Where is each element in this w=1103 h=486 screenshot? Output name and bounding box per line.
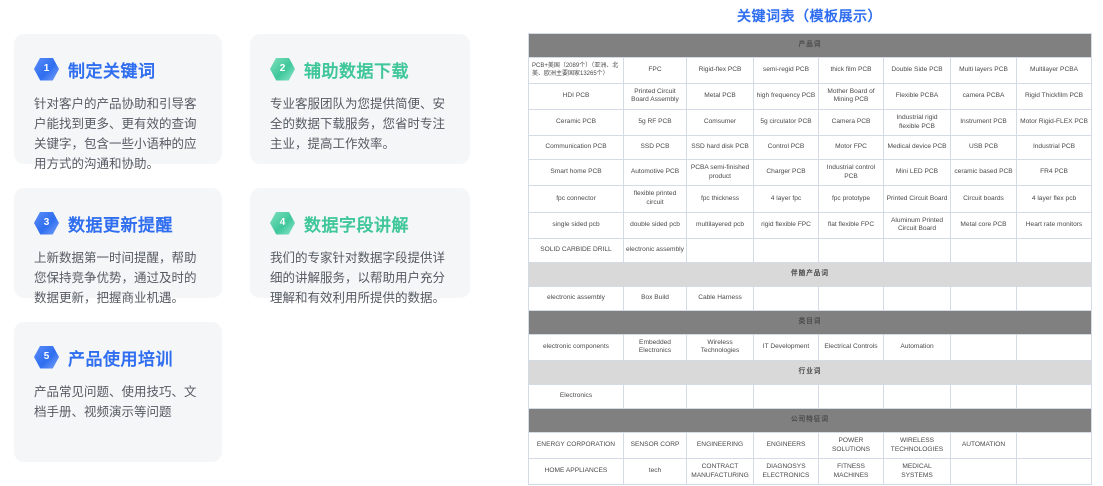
empty-cell — [624, 384, 687, 408]
empty-cell — [1017, 334, 1092, 360]
keyword-cell[interactable]: Automation — [884, 334, 951, 360]
table-row: PCB+美国（2089个）（亚洲、北美、欧洲主要国家13265个）FPCRigi… — [529, 58, 1092, 84]
keyword-cell[interactable]: Heart rate monitors — [1017, 212, 1092, 238]
keyword-cell[interactable]: POWER SOLUTIONS — [819, 432, 884, 458]
keyword-cell[interactable]: flat flexible FPC — [819, 212, 884, 238]
keyword-cell[interactable]: Double Side PCB — [884, 58, 951, 84]
table-row: Communication PCBSSD PCBSSD hard disk PC… — [529, 136, 1092, 160]
keyword-cell[interactable]: SSD PCB — [624, 136, 687, 160]
keyword-cell[interactable]: Ceramic PCB — [529, 110, 624, 136]
keyword-cell[interactable]: Industrial PCB — [1017, 136, 1092, 160]
keyword-cell[interactable]: Embedded Electronics — [624, 334, 687, 360]
section-header-row: 公司特征词 — [529, 408, 1092, 432]
keyword-cell[interactable]: Motor FPC — [819, 136, 884, 160]
table-row: SOLID CARBIDE DRILLelectronic assembly — [529, 238, 1092, 262]
keyword-cell[interactable]: 4 layer flex pcb — [1017, 186, 1092, 212]
keyword-cell[interactable]: camera PCBA — [951, 83, 1017, 109]
empty-cell — [1017, 238, 1092, 262]
table-title: 关键词表（模板展示） — [528, 0, 1091, 33]
keyword-cell[interactable]: ENGINEERS — [754, 432, 819, 458]
keyword-cell[interactable]: semi-regid PCB — [754, 58, 819, 84]
keyword-cell[interactable]: flexible printed circuit — [624, 186, 687, 212]
empty-cell — [754, 238, 819, 262]
keyword-cell[interactable]: HOME APPLIANCES — [529, 459, 624, 485]
keyword-cell[interactable]: Rigid Thickfilm PCB — [1017, 83, 1092, 109]
service-card-header: 5产品使用培训 — [34, 344, 202, 370]
table-row: electronic assemblyBox BuildCable Harnes… — [529, 286, 1092, 310]
service-card-header: 2辅助数据下载 — [270, 56, 450, 82]
empty-cell — [754, 384, 819, 408]
keyword-cell[interactable]: Charger PCB — [754, 160, 819, 186]
keyword-cell[interactable]: Cable Harness — [687, 286, 754, 310]
keyword-cell[interactable]: ENGINEERING — [687, 432, 754, 458]
keyword-table: 产品词PCB+美国（2089个）（亚洲、北美、欧洲主要国家13265个）FPCR… — [528, 33, 1092, 485]
empty-cell — [1017, 432, 1092, 458]
keyword-cell[interactable]: SENSOR CORP — [624, 432, 687, 458]
table-row: ENERGY CORPORATIONSENSOR CORPENGINEERING… — [529, 432, 1092, 458]
keyword-cell[interactable]: MEDICAL SYSTEMS — [884, 459, 951, 485]
keyword-cell[interactable]: IT Development — [754, 334, 819, 360]
keyword-cell[interactable]: Electronics — [529, 384, 624, 408]
service-card-1[interactable]: 1制定关键词针对客户的产品协助和引导客户能找到更多、更有效的查询关键字，包含一些… — [14, 34, 222, 164]
table-row: HOME APPLIANCEStechCONTRACT MANUFACTURIN… — [529, 459, 1092, 485]
keyword-cell[interactable]: Communication PCB — [529, 136, 624, 160]
hexagon-badge-icon: 3 — [34, 212, 59, 235]
keyword-cell[interactable]: Multi layers PCB — [951, 58, 1017, 84]
hexagon-badge-icon: 5 — [34, 346, 59, 369]
keyword-cell[interactable]: Flexible PCBA — [884, 83, 951, 109]
keyword-cell[interactable]: PCB+美国（2089个）（亚洲、北美、欧洲主要国家13265个） — [529, 58, 624, 84]
table-row: Electronics — [529, 384, 1092, 408]
empty-cell — [1017, 459, 1092, 485]
keyword-cell[interactable]: Printed Circuit Board — [884, 186, 951, 212]
service-card-5[interactable]: 5产品使用培训产品常见问题、使用技巧、文档手册、视频演示等问题 — [14, 322, 222, 462]
keyword-cell[interactable]: HDI PCB — [529, 83, 624, 109]
service-card-header: 1制定关键词 — [34, 56, 202, 82]
keyword-cell[interactable]: 5g RF PCB — [624, 110, 687, 136]
service-cards-panel: 1制定关键词针对客户的产品协助和引导客户能找到更多、更有效的查询关键字，包含一些… — [0, 0, 500, 486]
section-header-3: 行业词 — [529, 360, 1092, 384]
service-card-2[interactable]: 2辅助数据下载专业客服团队为您提供简便、安全的数据下载服务，您省时专注主业，提高… — [250, 34, 470, 164]
page-root: 1制定关键词针对客户的产品协助和引导客户能找到更多、更有效的查询关键字，包含一些… — [0, 0, 1103, 486]
keyword-cell[interactable]: Smart home PCB — [529, 160, 624, 186]
empty-cell — [951, 238, 1017, 262]
keyword-cell[interactable]: USB PCB — [951, 136, 1017, 160]
section-header-2: 类目词 — [529, 310, 1092, 334]
keyword-cell[interactable]: Industrial rigid flexible PCB — [884, 110, 951, 136]
keyword-cell[interactable]: Metal PCB — [687, 83, 754, 109]
keyword-cell[interactable]: Box Build — [624, 286, 687, 310]
service-card-3[interactable]: 3数据更新提醒上新数据第一时间提醒，帮助您保持竞争优势，通过及时的数据更新，把握… — [14, 188, 222, 298]
keyword-cell[interactable]: Rigid-flex PCB — [687, 58, 754, 84]
keyword-cell[interactable]: double sided pcb — [624, 212, 687, 238]
empty-cell — [884, 384, 951, 408]
keyword-cell[interactable]: thick film PCB — [819, 58, 884, 84]
keyword-cell[interactable]: FITNESS MACHINES — [819, 459, 884, 485]
keyword-cell[interactable]: Camera PCB — [819, 110, 884, 136]
table-row: Ceramic PCB5g RF PCBComsumer5g circulato… — [529, 110, 1092, 136]
keyword-cell[interactable]: FPC — [624, 58, 687, 84]
keyword-cell[interactable]: 4 layer fpc — [754, 186, 819, 212]
empty-cell — [884, 286, 951, 310]
keyword-cell[interactable]: single sided pcb — [529, 212, 624, 238]
keyword-cell[interactable]: SOLID CARBIDE DRILL — [529, 238, 624, 262]
keyword-cell[interactable]: high frequency PCB — [754, 83, 819, 109]
service-card-header: 4数据字段讲解 — [270, 210, 450, 236]
keyword-table-body: 产品词PCB+美国（2089个）（亚洲、北美、欧洲主要国家13265个）FPCR… — [529, 34, 1092, 485]
keyword-cell[interactable]: Circuit boards — [951, 186, 1017, 212]
keyword-cell[interactable]: SSD hard disk PCB — [687, 136, 754, 160]
empty-cell — [754, 286, 819, 310]
service-card-body: 针对客户的产品协助和引导客户能找到更多、更有效的查询关键字，包含一些小语种的应用… — [34, 94, 202, 174]
keyword-cell[interactable]: Printed Circuit Board Assembly — [624, 83, 687, 109]
table-row: fpc connectorflexible printed circuitfpc… — [529, 186, 1092, 212]
keyword-cell[interactable]: Control PCB — [754, 136, 819, 160]
table-row: electronic componentsEmbedded Electronic… — [529, 334, 1092, 360]
empty-cell — [1017, 384, 1092, 408]
keyword-cell[interactable]: rigid flexible FPC — [754, 212, 819, 238]
keyword-cell[interactable]: Wireless Technologies — [687, 334, 754, 360]
keyword-cell[interactable]: electronic assembly — [624, 238, 687, 262]
keyword-cell[interactable]: Aluminum Printed Circuit Board — [884, 212, 951, 238]
service-card-body: 专业客服团队为您提供简便、安全的数据下载服务，您省时专注主业，提高工作效率。 — [270, 94, 450, 154]
service-card-title: 数据字段讲解 — [304, 211, 409, 236]
keyword-cell[interactable]: Metal core PCB — [951, 212, 1017, 238]
section-header-row: 伴随产品词 — [529, 262, 1092, 286]
keyword-cell[interactable]: fpc thickness — [687, 186, 754, 212]
table-row: Smart home PCBAutomotive PCBPCBA semi-fi… — [529, 160, 1092, 186]
section-header-4: 公司特征词 — [529, 408, 1092, 432]
service-card-body: 上新数据第一时间提醒，帮助您保持竞争优势，通过及时的数据更新，把握商业机遇。 — [34, 248, 202, 308]
keyword-cell[interactable]: Motor Rigid-FLEX PCB — [1017, 110, 1092, 136]
keyword-cell[interactable]: Automotive PCB — [624, 160, 687, 186]
service-card-4[interactable]: 4数据字段讲解我们的专家针对数据字段提供详细的讲解服务，以帮助用户充分理解和有效… — [250, 188, 470, 298]
service-card-title: 数据更新提醒 — [68, 211, 173, 236]
hexagon-badge-icon: 4 — [270, 212, 295, 235]
keyword-cell[interactable]: Electrical Controls — [819, 334, 884, 360]
keyword-cell[interactable]: PCBA semi-finished product — [687, 160, 754, 186]
empty-cell — [687, 238, 754, 262]
keyword-cell[interactable]: 5g circulator PCB — [754, 110, 819, 136]
service-card-title: 辅助数据下载 — [304, 57, 409, 82]
keyword-cell[interactable]: WIRELESS TECHNOLOGIES — [884, 432, 951, 458]
keyword-cell[interactable]: fpc prototype — [819, 186, 884, 212]
keyword-cell[interactable]: Mother Board of Mining PCB — [819, 83, 884, 109]
keyword-cell[interactable]: ceramic based PCB — [951, 160, 1017, 186]
keyword-cell[interactable]: AUTOMATION — [951, 432, 1017, 458]
hexagon-badge-icon: 1 — [34, 58, 59, 81]
empty-cell — [951, 384, 1017, 408]
keyword-cell[interactable]: electronic components — [529, 334, 624, 360]
keyword-cell[interactable]: tech — [624, 459, 687, 485]
service-card-title: 产品使用培训 — [68, 345, 173, 370]
empty-cell — [951, 286, 1017, 310]
empty-cell — [951, 334, 1017, 360]
section-header-1: 伴随产品词 — [529, 262, 1092, 286]
section-header-row: 行业词 — [529, 360, 1092, 384]
empty-cell — [819, 384, 884, 408]
keyword-cell[interactable]: Industrial control PCB — [819, 160, 884, 186]
keyword-cell[interactable]: CONTRACT MANUFACTURING — [687, 459, 754, 485]
hexagon-badge-icon: 2 — [270, 58, 295, 81]
keyword-cell[interactable]: fpc connector — [529, 186, 624, 212]
service-card-title: 制定关键词 — [68, 57, 156, 82]
keyword-cell[interactable]: Mini LED PCB — [884, 160, 951, 186]
service-card-header: 3数据更新提醒 — [34, 210, 202, 236]
keyword-cell[interactable]: Multilayer PCBA — [1017, 58, 1092, 84]
table-row: single sided pcbdouble sided pcbmultilay… — [529, 212, 1092, 238]
service-card-body: 产品常见问题、使用技巧、文档手册、视频演示等问题 — [34, 382, 202, 422]
empty-cell — [1017, 286, 1092, 310]
keyword-cell[interactable]: ENERGY CORPORATION — [529, 432, 624, 458]
empty-cell — [951, 459, 1017, 485]
service-card-body: 我们的专家针对数据字段提供详细的讲解服务，以帮助用户充分理解和有效利用所提供的数… — [270, 248, 450, 308]
section-header-row: 类目词 — [529, 310, 1092, 334]
section-header-0: 产品词 — [529, 34, 1092, 58]
keyword-cell[interactable]: electronic assembly — [529, 286, 624, 310]
keyword-cell[interactable]: DIAGNOSYS ELECTRONICS — [754, 459, 819, 485]
empty-cell — [819, 286, 884, 310]
keyword-cell[interactable]: Comsumer — [687, 110, 754, 136]
section-header-row: 产品词 — [529, 34, 1092, 58]
empty-cell — [884, 238, 951, 262]
keyword-cell[interactable]: Medical device PCB — [884, 136, 951, 160]
keyword-cell[interactable]: Instrument PCB — [951, 110, 1017, 136]
empty-cell — [819, 238, 884, 262]
keyword-table-panel: 关键词表（模板展示） 产品词PCB+美国（2089个）（亚洲、北美、欧洲主要国家… — [528, 0, 1091, 485]
keyword-cell[interactable]: multilayered pcb — [687, 212, 754, 238]
keyword-cell[interactable]: FR4 PCB — [1017, 160, 1092, 186]
empty-cell — [687, 384, 754, 408]
table-row: HDI PCBPrinted Circuit Board AssemblyMet… — [529, 83, 1092, 109]
